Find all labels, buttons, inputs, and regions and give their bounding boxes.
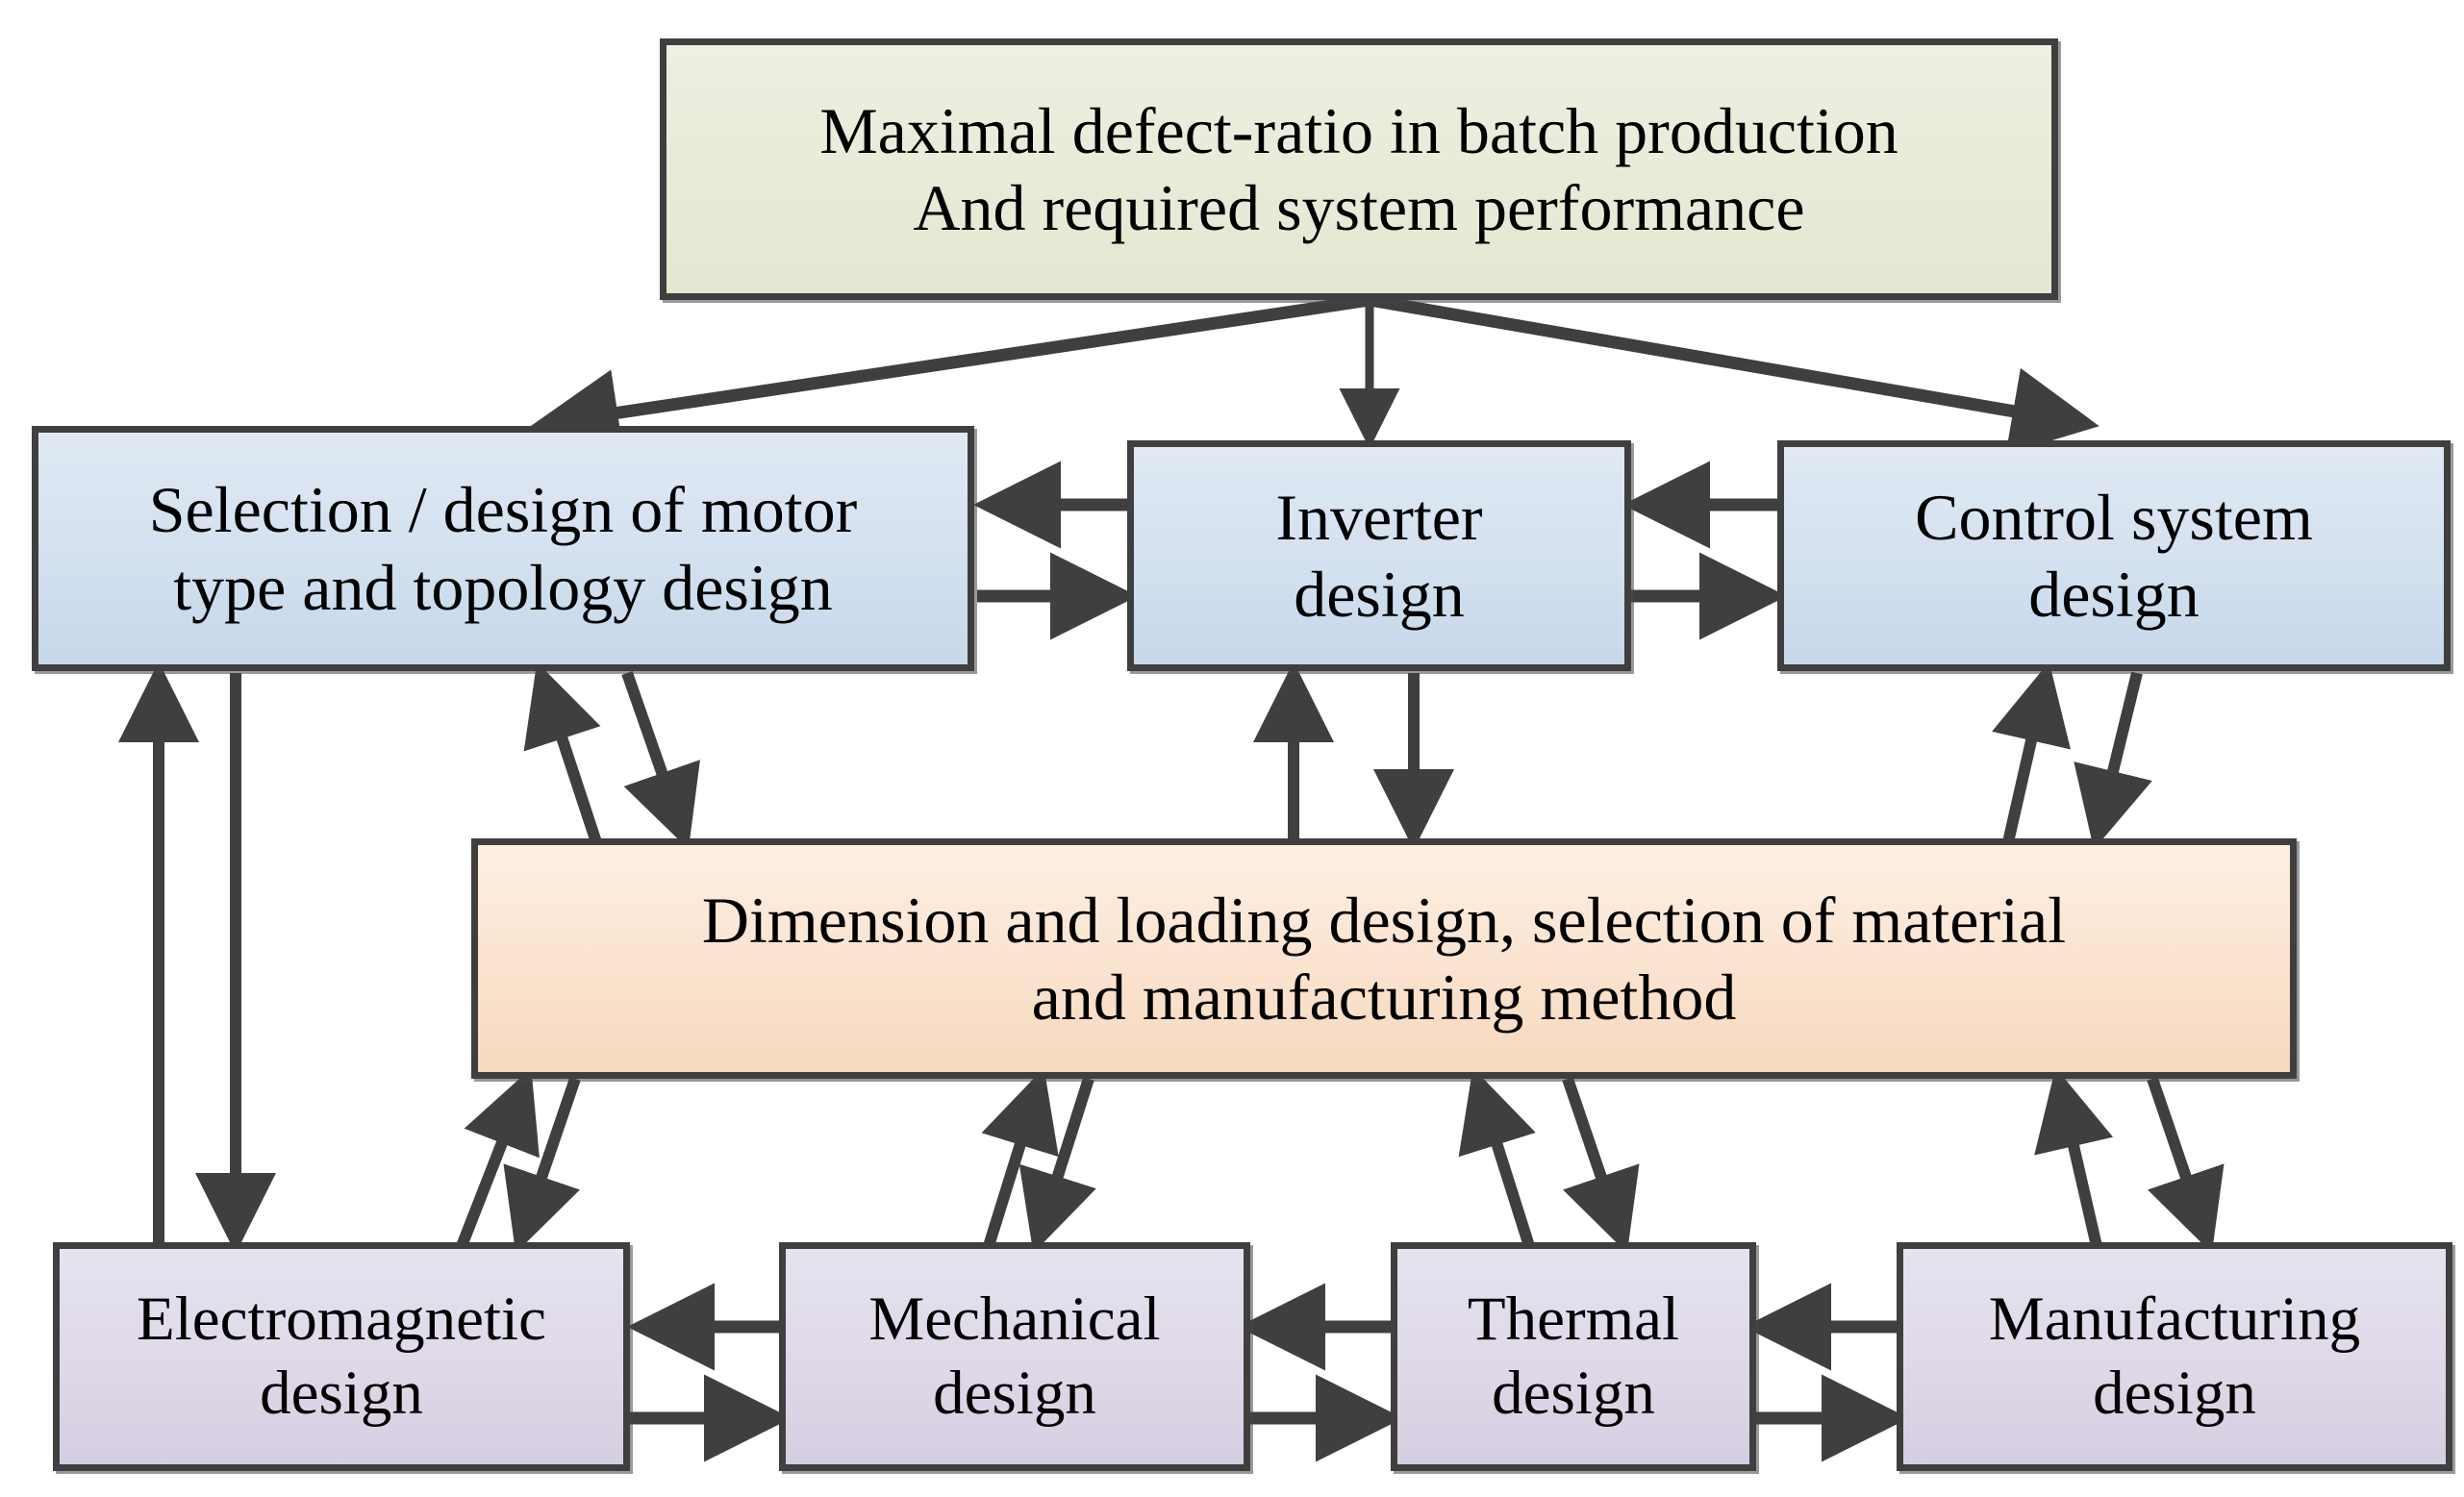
node-requirements-label: Maximal defect-ratio in batch production…: [676, 92, 2042, 246]
node-inverter-design[interactable]: Inverter design: [1127, 440, 1631, 671]
edge-dimension-to-thermal: [1568, 1079, 1623, 1242]
node-electromagnetic-design[interactable]: Electromagnetic design: [53, 1242, 630, 1471]
node-dimension-loading[interactable]: Dimension and loading design, selection …: [471, 838, 2297, 1079]
node-electromagnetic-design-label: Electromagnetic design: [69, 1283, 614, 1430]
edge-dimension-to-control: [2008, 673, 2047, 842]
edge-dimension-to-mechanical: [1037, 1079, 1089, 1242]
edge-dimension-to-manufacturing: [2152, 1079, 2208, 1242]
edge-dimension-to-motor: [541, 673, 596, 842]
edge-thermal-to-dimension: [1476, 1079, 1529, 1246]
node-manufacturing-design-label: Manufacturing design: [1913, 1283, 2436, 1430]
node-manufacturing-design[interactable]: Manufacturing design: [1897, 1242, 2452, 1471]
edge-manufacturing-to-dimension: [2058, 1079, 2097, 1246]
flowchart-canvas: Maximal defect-ratio in batch production…: [0, 0, 2464, 1497]
node-motor-selection[interactable]: Selection / design of motor type and top…: [32, 426, 974, 671]
edge-electromagnetic-to-dimension: [462, 1079, 527, 1246]
node-thermal-design[interactable]: Thermal design: [1391, 1242, 1756, 1471]
node-mechanical-design-label: Mechanical design: [795, 1283, 1234, 1430]
edge-requirements-to-motor: [543, 300, 1370, 424]
node-motor-selection-label: Selection / design of motor type and top…: [48, 471, 958, 625]
node-dimension-loading-label: Dimension and loading design, selection …: [488, 882, 2280, 1035]
node-inverter-design-label: Inverter design: [1144, 479, 1615, 633]
edge-mechanical-to-dimension: [989, 1079, 1041, 1246]
node-mechanical-design[interactable]: Mechanical design: [779, 1242, 1250, 1471]
edge-motor-to-dimension: [627, 673, 685, 838]
node-control-system-design[interactable]: Control system design: [1777, 440, 2451, 671]
edge-control-to-dimension: [2097, 673, 2137, 838]
node-control-system-design-label: Control system design: [1794, 479, 2434, 633]
edge-dimension-to-electromagnetic: [519, 1079, 575, 1242]
node-thermal-design-label: Thermal design: [1407, 1283, 1740, 1430]
edge-requirements-to-control: [1370, 300, 2087, 424]
node-requirements[interactable]: Maximal defect-ratio in batch production…: [660, 38, 2058, 300]
